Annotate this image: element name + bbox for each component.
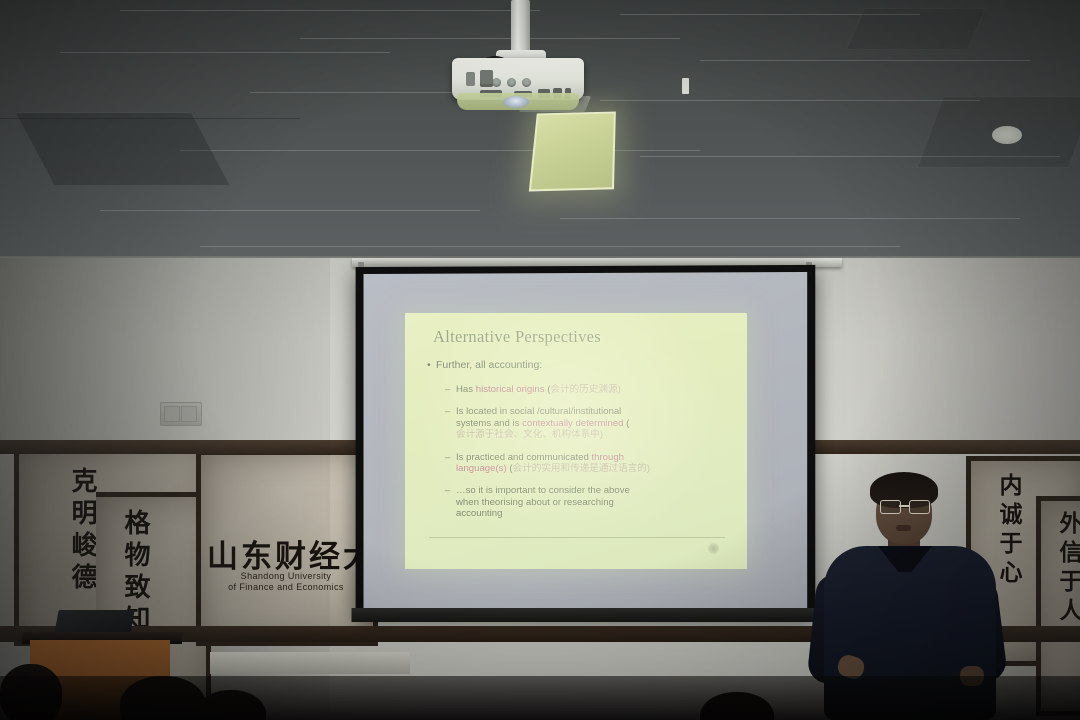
dash-icon-2: – (445, 406, 450, 417)
sb3-chinese: 会计的实用和传递是通过语言的 (513, 463, 647, 474)
ceiling-vent (16, 112, 230, 185)
sb4-line3: accounting (456, 508, 502, 519)
slide-sub-bullet-4: – …so it is important to consider the ab… (445, 485, 727, 519)
slide-sub-bullet-3: – Is practiced and communicated through … (445, 452, 727, 475)
sb2-highlight: contextually determined (522, 418, 623, 429)
slide-divider (429, 537, 725, 538)
sb2-chinese: 会计源于社会、文化、机构体系中 (456, 429, 600, 440)
slide-sub-bullet-2: – Is located in social /cultural/institu… (445, 406, 727, 440)
projector-mount-pole (511, 0, 530, 56)
ceiling-fixture-small (682, 78, 689, 94)
sb3-close: ) (647, 463, 650, 474)
sb1-chinese: 会计的历史渊源 (550, 384, 617, 395)
slide-title: Alternative Perspectives (433, 327, 601, 347)
projected-slide: Alternative Perspectives •Further, all a… (405, 313, 747, 569)
projector-knob-1 (492, 78, 501, 87)
university-name-chinese: 山东财经大学 (207, 531, 378, 576)
sb3-line1-pre: Is practiced and communicated (456, 452, 591, 463)
sb3-line2-post: ( (507, 463, 513, 474)
projector-knob-3 (522, 78, 531, 87)
sb2-line2-post: ( (623, 418, 629, 429)
sb4-line1: …so it is important to consider the abov… (456, 485, 630, 496)
bullet-dot-icon: • (427, 359, 436, 371)
sb1-pre: Has (456, 384, 476, 395)
front-desk (210, 652, 410, 674)
university-name-english: Shandong University of Finance and Econo… (211, 571, 361, 593)
audience-foreground-shadow (0, 676, 1080, 720)
sb2-line2-pre: systems and is (456, 418, 522, 429)
university-name-english-line1: Shandong University (211, 571, 361, 582)
slide-lead-bullet: •Further, all accounting: (427, 359, 727, 371)
projector-lens (503, 96, 529, 108)
screen-weight-bar (352, 608, 820, 622)
ceiling-panel-far-right (846, 8, 987, 50)
slide-lead-bullet-text: Further, all accounting: (436, 359, 542, 371)
university-name-english-line2: of Finance and Economics (211, 582, 361, 593)
slide-body: •Further, all accounting: – Has historic… (427, 359, 727, 531)
light-switch[interactable] (160, 402, 202, 426)
projector-knob-2 (507, 78, 516, 87)
dash-icon-3: – (445, 452, 450, 463)
sb2-close: ) (600, 429, 603, 440)
projector-vent (992, 126, 1022, 144)
lecture-hall-photo: 克明峻德 格物致知 山东财经大学 Shandong University of … (0, 0, 1080, 720)
sb1-close: ) (618, 384, 621, 395)
projector-cable-clip (480, 70, 493, 84)
calligraphy-column-waixin: 外信于人 (1055, 511, 1080, 627)
calligraphy-column-keming: 克明峻德 (67, 467, 97, 595)
sb3-line2-highlight: language(s) (456, 463, 507, 474)
sb4-line2: when theorising about or researching (456, 497, 614, 508)
ceiling-light-panel (529, 112, 616, 192)
dash-icon-4: – (445, 485, 450, 496)
dash-icon-1: – (445, 384, 450, 395)
sb3-highlight: through (591, 452, 624, 463)
projector-side-block (466, 72, 475, 86)
ceiling (0, 0, 1080, 262)
sb1-highlight: historical origins (476, 384, 545, 395)
presenter-mouth (896, 525, 911, 531)
slide-sub-bullet-1: – Has historical origins (会计的历史渊源) (445, 384, 727, 395)
sb2-line1: Is located in social /cultural/instituti… (456, 406, 621, 417)
slide-corner-mark-icon (708, 543, 719, 554)
eyeglasses-icon (880, 500, 928, 512)
